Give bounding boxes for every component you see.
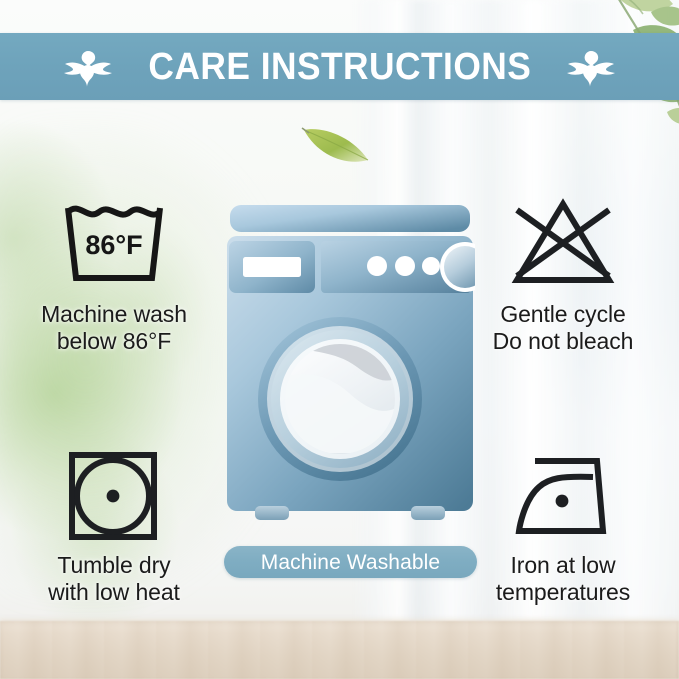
header-banner: CARE INSTRUCTIONS (0, 33, 679, 100)
machine-washable-badge: Machine Washable (224, 546, 477, 578)
care-symbol-label: Machine wash below 86°F (41, 301, 187, 355)
wash-tub-icon: 86°F (56, 196, 172, 294)
fleur-de-lis-icon (62, 45, 114, 89)
care-symbol-machine-wash: 86°F Machine wash below 86°F (4, 196, 224, 355)
care-instructions-infographic: CARE INSTRUCTIONS (0, 0, 679, 679)
care-symbol-iron: Iron at low temperatures (453, 447, 673, 606)
machine-foot (411, 506, 445, 520)
care-symbol-label: Tumble dry with low heat (48, 552, 180, 606)
wash-temperature-value: 86°F (85, 230, 142, 260)
tumble-dry-icon (56, 447, 172, 545)
control-button (422, 257, 440, 275)
machine-foot (255, 506, 289, 520)
machine-lid (230, 205, 470, 232)
washing-machine-illustration (225, 203, 475, 539)
heat-level-dot (107, 490, 120, 503)
care-symbol-label: Iron at low temperatures (496, 552, 630, 606)
fleur-de-lis-icon (565, 45, 617, 89)
heat-level-dot (556, 495, 569, 508)
drawer-handle (243, 257, 301, 277)
care-symbol-do-not-bleach: Gentle cycle Do not bleach (453, 196, 673, 355)
badge-label: Machine Washable (261, 552, 440, 573)
control-button (395, 256, 415, 276)
triangle-crossed-out-icon (505, 196, 621, 294)
iron-icon (505, 447, 621, 545)
care-symbol-tumble-dry: Tumble dry with low heat (4, 447, 224, 606)
care-symbol-label: Gentle cycle Do not bleach (493, 301, 634, 355)
page-title: CARE INSTRUCTIONS (148, 48, 531, 86)
wooden-tabletop (0, 621, 679, 679)
control-button (367, 256, 387, 276)
